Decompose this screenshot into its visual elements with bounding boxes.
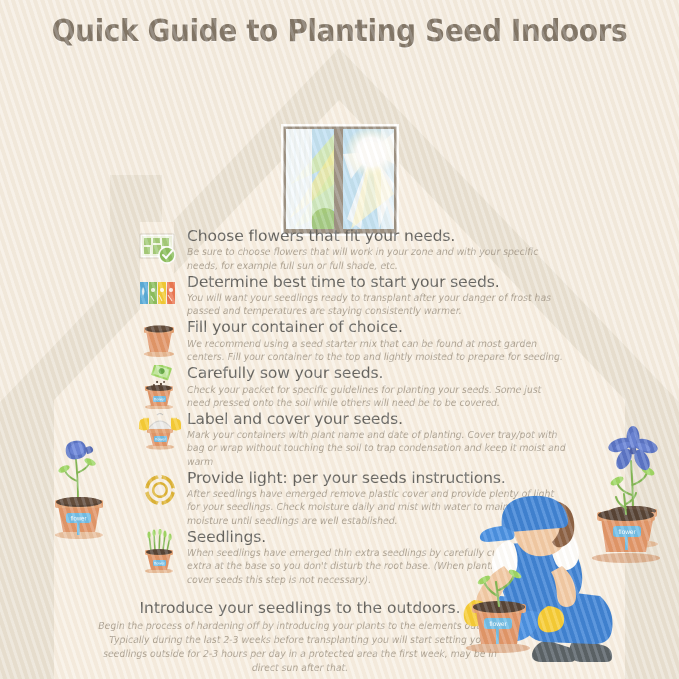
svg-text:flower: flower (618, 529, 636, 536)
background-flower-pot: flower (592, 493, 660, 563)
svg-text:flower: flower (155, 437, 166, 442)
sun-light-icon (137, 470, 183, 510)
step-body: Mark your containers with plant name and… (187, 429, 567, 469)
step-body: Be sure to choose flowers that will work… (187, 246, 567, 272)
step-item: flower Label and cover your seeds. Mark … (137, 411, 567, 469)
page-title: Quick Guide to Planting Seed Indoors (24, 14, 655, 49)
step-item: Fill your container of choice. We recomm… (137, 319, 567, 364)
svg-text:flower: flower (154, 397, 165, 402)
step-heading: Label and cover your seeds. (187, 411, 567, 428)
step-heading: Choose flowers that fit your needs. (187, 228, 567, 245)
gloved-hands-covering-pot-icon: flower (137, 411, 183, 451)
svg-text:flower: flower (489, 621, 507, 628)
step-body: You will want your seedlings ready to tr… (187, 292, 567, 318)
step-item: flower Carefully sow your seeds. Check y… (137, 365, 567, 410)
seedlings-pot-icon: flower (137, 529, 183, 569)
svg-text:flower: flower (154, 560, 165, 565)
step-heading: Provide light: per your seeds instructio… (187, 470, 567, 487)
left-flower-pot: flower (44, 415, 114, 545)
step-item: Determine best time to start your seeds.… (137, 274, 567, 319)
season-cards-icon (137, 274, 183, 314)
step-body: Check your packet for specific guideline… (187, 384, 567, 410)
filled-pot-icon (137, 319, 183, 359)
step-heading: Fill your container of choice. (187, 319, 567, 336)
sunny-window (281, 124, 399, 236)
seed-packet-sowing-icon: flower (137, 365, 183, 405)
step-heading: Carefully sow your seeds. (187, 365, 567, 382)
infographic-canvas: Quick Guide to Planting Seed Indoors (0, 0, 679, 679)
step-item: Choose flowers that fit your needs. Be s… (137, 228, 567, 273)
kneeling-gardener-illustration: flower (438, 492, 679, 679)
seed-catalog-icon (137, 228, 183, 268)
svg-text:flower: flower (70, 517, 86, 523)
step-body: We recommend using a seed starter mix th… (187, 338, 567, 364)
step-heading: Determine best time to start your seeds. (187, 274, 567, 291)
